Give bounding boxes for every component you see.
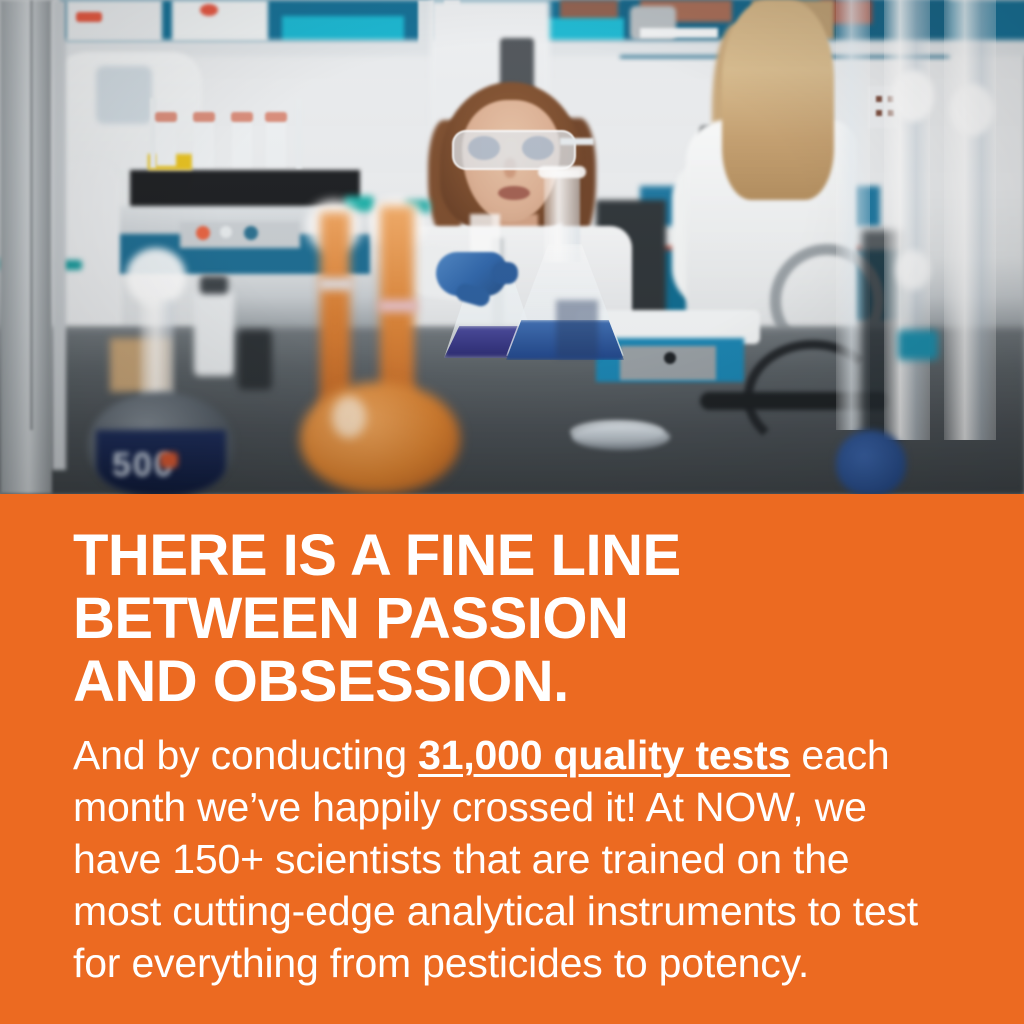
orange-copy-panel: THERE IS A FINE LINE BETWEEN PASSION AND… xyxy=(0,494,1024,1024)
quality-tests-emphasis: 31,000 quality tests xyxy=(418,732,790,778)
body-text-before: And by conducting xyxy=(73,732,418,778)
headline: THERE IS A FINE LINE BETWEEN PASSION AND… xyxy=(73,524,953,713)
copy-block: THERE IS A FINE LINE BETWEEN PASSION AND… xyxy=(73,524,953,989)
headline-line-2: BETWEEN PASSION xyxy=(73,587,953,650)
body-paragraph: And by conducting 31,000 quality tests e… xyxy=(73,713,935,989)
lab-photo: 500 xyxy=(0,0,1024,494)
photo-vignette xyxy=(0,0,1024,494)
headline-line-1: THERE IS A FINE LINE xyxy=(73,524,953,587)
headline-line-3: AND OBSESSION. xyxy=(73,650,953,713)
social-ad-graphic: 500 THERE IS A FINE LINE BETWEEN PASSION… xyxy=(0,0,1024,1024)
